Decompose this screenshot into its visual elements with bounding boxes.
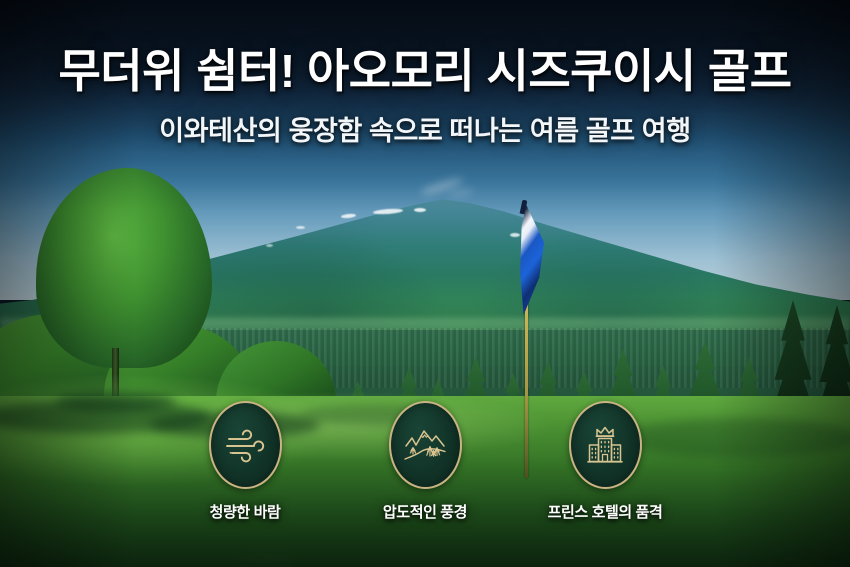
snow-patch: [296, 226, 305, 229]
promo-banner: 무더위 쉼터! 아오모리 시즈쿠이시 골프 이와테산의 웅장함 속으로 떠나는 …: [0, 0, 850, 567]
hotel-crown-icon: [583, 423, 627, 467]
wind-badge[interactable]: [209, 401, 282, 489]
scenery-badge[interactable]: [389, 401, 462, 489]
page-subtitle: 이와테산의 웅장함 속으로 떠나는 여름 골프 여행: [0, 109, 850, 148]
wind-icon: [223, 425, 267, 465]
feature-label-scenery: 압도적인 풍경: [383, 501, 467, 522]
feature-label-hotel: 프린스 호텔의 품격: [548, 501, 663, 522]
feature-item-wind[interactable]: 청량한 바람: [191, 401, 299, 522]
snow-patch: [266, 244, 273, 247]
snow-patch: [510, 233, 520, 237]
hotel-badge[interactable]: [569, 401, 642, 489]
feature-badge-row: 청량한 바람: [0, 401, 850, 522]
mountain-icon: [402, 424, 448, 466]
feature-item-hotel[interactable]: 프린스 호텔의 품격: [551, 401, 659, 522]
headline-block: 무더위 쉼터! 아오모리 시즈쿠이시 골프 이와테산의 웅장함 속으로 떠나는 …: [0, 0, 850, 148]
feature-item-scenery[interactable]: 압도적인 풍경: [371, 401, 479, 522]
feature-label-wind: 청량한 바람: [210, 501, 281, 522]
page-title: 무더위 쉼터! 아오모리 시즈쿠이시 골프: [0, 46, 850, 98]
